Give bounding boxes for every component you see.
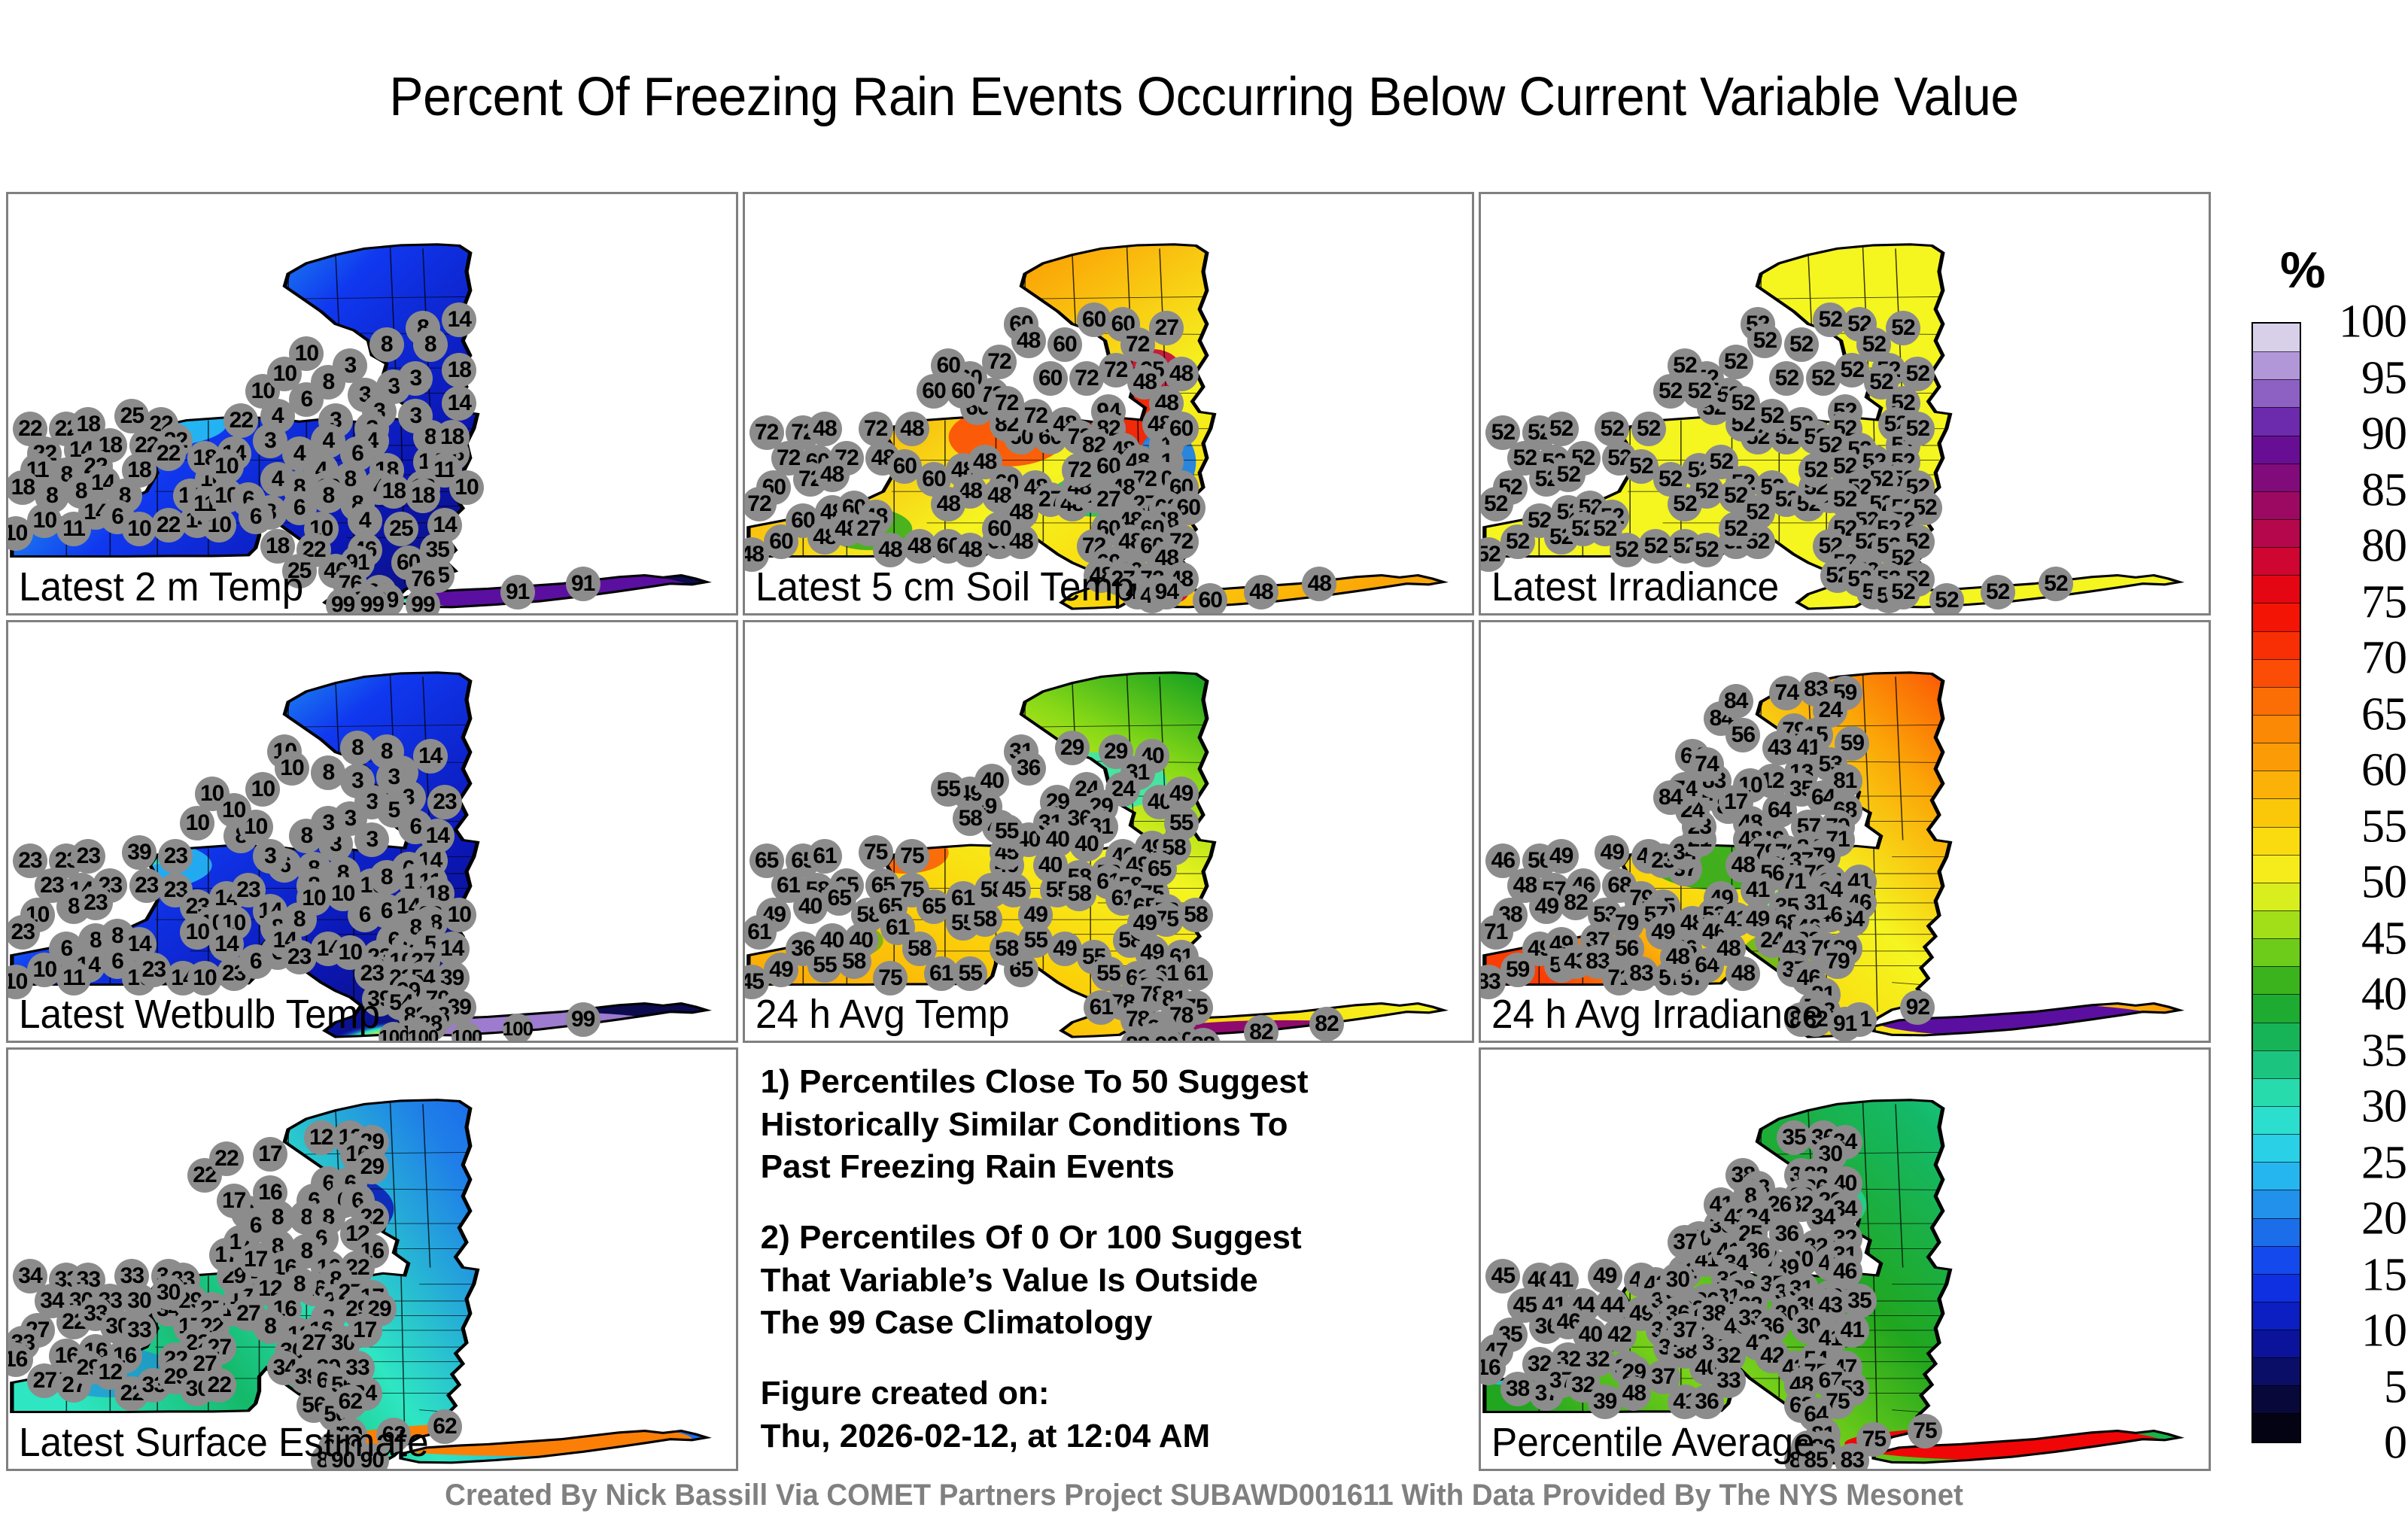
colorbar-band — [2253, 631, 2300, 659]
station-marker: 8 — [369, 327, 404, 362]
station-marker: 52 — [1544, 412, 1579, 446]
station-marker: 10 — [275, 751, 309, 786]
station-marker: 99 — [566, 1002, 600, 1037]
station-marker: 48 — [1725, 956, 1760, 991]
colorbar-band — [2253, 771, 2300, 798]
colorbar-band — [2253, 1023, 2300, 1050]
colorbar-band — [2253, 491, 2300, 519]
station-marker: 25 — [384, 512, 418, 546]
station-marker: 61 — [807, 839, 842, 874]
map-area-0: 2222182522221418222282211188814818221011… — [8, 194, 736, 613]
station-marker: 22 — [202, 1368, 236, 1403]
station-marker: 60 — [1164, 412, 1199, 446]
colorbar-band — [2253, 1274, 2300, 1302]
colorbar-band — [2253, 1190, 2300, 1217]
station-marker: 11 — [56, 961, 91, 995]
notes-block: 1) Percentiles Close To 50 Suggest Histo… — [761, 1061, 1467, 1464]
station-marker: 10 — [180, 806, 214, 840]
station-marker: 23 — [158, 839, 193, 874]
station-marker: 23 — [6, 915, 40, 950]
station-marker: 10 — [180, 915, 214, 950]
station-marker: 91 — [500, 575, 535, 609]
station-marker: 56 — [1725, 718, 1760, 752]
panel-latest-wetbulb-temp[interactable]: 2323233923231423232382310236881423142310… — [6, 620, 738, 1044]
colorbar-band — [2253, 659, 2300, 687]
station-marker: 30 — [151, 1275, 186, 1310]
colorbar-band — [2253, 1106, 2300, 1134]
note-3-figure-created: Figure created on: Thu, 2026-02-12, at 1… — [761, 1372, 1467, 1457]
station-marker: 52 — [1653, 374, 1688, 409]
panel-latest-surface-estimate[interactable]: 3433333333343033303422332733161616303316… — [6, 1047, 738, 1471]
station-marker: 6 — [239, 500, 273, 534]
station-marker: 52 — [1719, 512, 1753, 546]
colorbar-tick: 30 — [2309, 1081, 2406, 1134]
station-marker: 55 — [990, 814, 1024, 849]
colorbar-tick: 50 — [2309, 856, 2406, 910]
station-marker: 92 — [1900, 990, 1935, 1025]
station-marker: 60 — [1033, 361, 1068, 396]
station-marker: 10 — [449, 470, 484, 505]
panel-24h-avg-temp[interactable]: 6565617575615865657540654961364040586561… — [743, 620, 1475, 1044]
colorbar-band — [2253, 938, 2300, 966]
colorbar-band — [2253, 1078, 2300, 1106]
colorbar-tick: 35 — [2309, 1024, 2406, 1078]
station-marker: 3 — [311, 806, 345, 840]
station-marker: 48 — [807, 412, 842, 446]
station-marker: 62 — [333, 1385, 367, 1419]
note-2-line-3: The 99 Case Climatology — [761, 1304, 1153, 1341]
station-marker: 72 — [743, 487, 777, 521]
note-1-line-1: 1) Percentiles Close To 50 Suggest — [761, 1063, 1309, 1100]
panel-latest-5cm-soil-temp[interactable]: 7272487248726072486072486072604860486048… — [743, 192, 1475, 616]
colorbar-band — [2253, 1357, 2300, 1385]
colorbar-band — [2253, 436, 2300, 464]
note-1-line-2: Historically Similar Conditions To — [761, 1106, 1288, 1143]
station-marker: 52 — [1769, 361, 1804, 396]
colorbar-band — [2253, 687, 2300, 715]
panel-label: Latest Irradiance — [1491, 564, 1779, 610]
station-marker: 10 — [289, 336, 324, 371]
station-marker: 10 — [245, 772, 280, 807]
colorbar-tick: 40 — [2309, 968, 2406, 1022]
colorbar-band — [2253, 966, 2300, 994]
station-marker: 3 — [253, 424, 287, 458]
station-marker: 10 — [442, 898, 476, 932]
attribution-footer: Created By Nick Bassill Via COMET Partne… — [48, 1479, 2360, 1512]
station-marker: 62 — [427, 1409, 462, 1444]
panel-label: Latest Wetbulb Temp — [19, 991, 380, 1038]
colorbar-band — [2253, 1330, 2300, 1357]
colorbar-area: % 10095908580757065605550454035302520151… — [2250, 226, 2408, 1475]
station-marker: 74 — [1689, 747, 1724, 782]
station-marker: 3 — [354, 822, 389, 857]
panel-label: 24 h Avg Irradiance — [1491, 991, 1823, 1038]
panel-label: 24 h Avg Temp — [756, 991, 1010, 1038]
colorbar-tick: 80 — [2309, 520, 2406, 573]
station-marker: 60 — [1047, 327, 1082, 362]
station-marker: 52 — [1886, 311, 1920, 345]
station-marker: 37 — [1668, 1313, 1702, 1348]
colorbar-band — [2253, 1385, 2300, 1413]
note-2-line-1: 2) Percentiles Of 0 Or 100 Suggest — [761, 1219, 1302, 1256]
station-marker: 52 — [2039, 567, 2073, 601]
colorbar-tick: 70 — [2309, 632, 2406, 685]
station-marker: 52 — [1719, 345, 1753, 379]
station-marker: 49 — [1595, 835, 1629, 870]
colorbar-tick: 60 — [2309, 744, 2406, 798]
station-marker: 94 — [1149, 575, 1184, 609]
station-marker: 41 — [1835, 1313, 1869, 1348]
station-marker: 75 — [1908, 1414, 1942, 1448]
colorbar-tick: 25 — [2309, 1136, 2406, 1190]
map-panel-grid: 2222182522221418222282211188814818221011… — [6, 192, 2211, 1471]
colorbar-gradient — [2251, 322, 2301, 1443]
station-marker: 58 — [953, 801, 987, 836]
station-marker: 23 — [78, 886, 113, 920]
station-marker: 60 — [1193, 583, 1227, 616]
station-marker: 40 — [1069, 827, 1104, 862]
station-marker: 18 — [442, 353, 476, 388]
colorbar-band — [2253, 827, 2300, 855]
colorbar-band — [2253, 910, 2300, 938]
panel-notes: 1) Percentiles Close To 50 Suggest Histo… — [743, 1047, 1475, 1471]
station-marker: 6 — [239, 944, 273, 979]
station-marker: 48 — [931, 487, 965, 521]
station-marker: 91 — [1828, 1007, 1862, 1041]
map-area-1: 7272487248726072486072486072604860486048… — [745, 194, 1473, 613]
station-marker: 48 — [1011, 324, 1046, 358]
station-marker: 29 — [1055, 731, 1090, 765]
colorbar-tick: 95 — [2309, 351, 2406, 405]
station-marker: 52 — [1981, 575, 2015, 609]
panel-latest-2m-temp[interactable]: 2222182522221418222282211188814818221011… — [6, 192, 738, 616]
station-marker: 14 — [413, 739, 448, 774]
colorbar-tick: 0 — [2309, 1417, 2406, 1470]
station-marker: 84 — [1653, 780, 1688, 815]
note-1: 1) Percentiles Close To 50 Suggest Histo… — [761, 1061, 1467, 1188]
station-marker: 58 — [837, 944, 871, 979]
panel-label: Latest 5 cm Soil Temp — [756, 564, 1135, 610]
station-marker: 52 — [1784, 327, 1819, 362]
map-area-4: 6565617575615865657540654961364040586561… — [745, 622, 1473, 1041]
figure-created-timestamp: Thu, 2026-02-12, at 12:04 AM — [761, 1418, 1211, 1454]
colorbar-tick: 65 — [2309, 688, 2406, 741]
station-marker: 29 — [354, 1150, 389, 1184]
colorbar-band — [2253, 407, 2300, 435]
colorbar-tick: 100 — [2309, 296, 2406, 349]
station-marker: 22 — [223, 403, 258, 438]
station-marker: 75 — [1856, 1422, 1891, 1457]
colorbar-tick: 75 — [2309, 576, 2406, 629]
colorbar-band — [2253, 715, 2300, 743]
note-2: 2) Percentiles Of 0 Or 100 Suggest That … — [761, 1217, 1467, 1344]
station-marker: 52 — [1886, 575, 1920, 609]
colorbar-band — [2253, 798, 2300, 826]
colorbar-band — [2253, 1050, 2300, 1078]
station-marker: 52 — [1479, 487, 1513, 521]
station-marker: 52 — [1668, 487, 1702, 521]
colorbar-band — [2253, 883, 2300, 910]
colorbar-tick-labels: 1009590858075706560555045403530252015105… — [2309, 322, 2406, 1443]
colorbar-band — [2253, 743, 2300, 771]
station-marker: 3 — [398, 361, 433, 396]
station-marker: 36 — [1011, 751, 1046, 786]
station-marker: 52 — [1551, 457, 1586, 492]
colorbar-tick: 55 — [2309, 800, 2406, 853]
colorbar-band — [2253, 351, 2300, 379]
station-marker: 48 — [1244, 575, 1278, 609]
colorbar-tick: 85 — [2309, 464, 2406, 517]
station-marker: 100 — [408, 1022, 438, 1044]
station-marker: 40 — [974, 764, 1009, 798]
station-marker: 52 — [1747, 324, 1782, 358]
colorbar-band — [2253, 994, 2300, 1022]
station-marker: 3 — [253, 839, 287, 874]
station-marker: 100 — [451, 1022, 482, 1044]
station-marker: 18 — [435, 420, 470, 454]
station-marker: 84 — [1719, 684, 1753, 719]
note-1-line-3: Past Freezing Rain Events — [761, 1148, 1175, 1185]
colorbar-band — [2253, 324, 2300, 351]
colorbar-tick: 20 — [2309, 1193, 2406, 1246]
colorbar-band — [2253, 575, 2300, 603]
station-marker: 39 — [122, 835, 157, 870]
colorbar-band — [2253, 1246, 2300, 1274]
station-marker: 75 — [895, 839, 929, 874]
colorbar-band — [2253, 519, 2300, 547]
station-marker: 14 — [442, 302, 476, 337]
station-marker: 22 — [151, 436, 186, 471]
station-marker: 72 — [1069, 361, 1104, 396]
station-marker: 37 — [1668, 1225, 1702, 1260]
station-marker: 55 — [953, 956, 987, 991]
station-marker: 18 — [406, 479, 440, 513]
station-marker: 75 — [873, 961, 908, 995]
station-marker: 58 — [1178, 898, 1213, 932]
colorbar-band — [2253, 855, 2300, 883]
station-marker: 17 — [253, 1137, 287, 1172]
colorbar-band — [2253, 603, 2300, 631]
station-marker: 49 — [1544, 839, 1579, 874]
station-marker: 17 — [348, 1313, 382, 1348]
station-marker: 52 — [1900, 412, 1935, 446]
colorbar-band — [2253, 1162, 2300, 1190]
colorbar-tick: 45 — [2309, 912, 2406, 965]
map-area-6: 3433333333343033303422332733161616303316… — [8, 1050, 736, 1469]
station-marker: 45 — [1485, 1259, 1520, 1293]
station-marker: 100 — [503, 1014, 533, 1044]
station-marker: 22 — [209, 1141, 244, 1176]
colorbar-tick: 5 — [2309, 1360, 2406, 1414]
station-marker: 61 — [743, 915, 777, 950]
station-marker: 4 — [260, 462, 295, 497]
colorbar-band — [2253, 1218, 2300, 1246]
colorbar-band — [2253, 1413, 2300, 1441]
panel-percentile-average[interactable]: 4546414942454144444936463547323232404216… — [1479, 1047, 2211, 1471]
figure-created-label: Figure created on: — [761, 1375, 1050, 1412]
colorbar-band — [2253, 379, 2300, 407]
station-marker: 48 — [895, 412, 929, 446]
page-title: Percent Of Freezing Rain Events Occurrin… — [72, 66, 2336, 128]
station-marker: 61 — [1084, 990, 1118, 1025]
station-marker: 52 — [1929, 583, 1964, 616]
map-area-7: 4546414942454144444936463547323232404216… — [1481, 1050, 2209, 1469]
station-marker: 42 — [1602, 1318, 1637, 1352]
note-2-line-2: That Variable’s Value Is Outside — [761, 1262, 1258, 1299]
station-marker: 58 — [968, 902, 1002, 937]
colorbar-band — [2253, 1134, 2300, 1162]
station-marker: 14 — [442, 386, 476, 421]
map-area-3: 2323233923231423232382310236881423142310… — [8, 622, 736, 1041]
colorbar-band — [2253, 464, 2300, 491]
colorbar-unit-label: % — [2280, 241, 2325, 299]
station-marker: 23 — [427, 785, 462, 819]
panel-label: Latest Surface Estimate — [19, 1419, 429, 1466]
colorbar-tick: 90 — [2309, 408, 2406, 461]
station-marker: 60 — [982, 512, 1017, 546]
colorbar-tick: 15 — [2309, 1248, 2406, 1302]
station-marker: 79 — [1820, 944, 1855, 979]
station-marker: 52 — [1631, 412, 1666, 446]
station-marker: 8 — [413, 327, 448, 362]
station-marker: 82 — [1309, 1007, 1344, 1041]
station-marker: 48 — [1302, 567, 1336, 601]
station-marker: 23 — [71, 839, 105, 874]
station-marker: 71 — [1479, 915, 1513, 950]
station-marker: 10 — [209, 449, 244, 484]
station-marker: 48 — [815, 457, 850, 492]
panel-label: Percentile Average — [1491, 1419, 1815, 1466]
panel-latest-irradiance[interactable]: 5252525252525252525252525252525252525252… — [1479, 192, 2211, 616]
station-marker: 55 — [931, 772, 965, 807]
colorbar-tick: 10 — [2309, 1305, 2406, 1358]
station-marker: 60 — [917, 374, 951, 409]
panel-label: Latest 2 m Temp — [19, 564, 303, 610]
colorbar-band — [2253, 547, 2300, 575]
station-marker: 100 — [379, 1022, 409, 1044]
station-marker: 91 — [566, 567, 600, 601]
station-marker: 52 — [1806, 361, 1841, 396]
map-area-2: 5252525252525252525252525252525252525252… — [1481, 194, 2209, 613]
panel-24h-avg-irradiance[interactable]: 4656494940485746687949823871494937537956… — [1479, 620, 2211, 1044]
station-marker: 33 — [122, 1313, 157, 1348]
station-marker: 33 — [340, 1351, 375, 1385]
station-marker: 45 — [996, 873, 1031, 907]
station-marker: 75 — [859, 835, 893, 870]
station-marker: 10 — [217, 793, 251, 828]
station-marker: 72 — [982, 345, 1017, 379]
colorbar-band — [2253, 1302, 2300, 1330]
station-marker: 27 — [1149, 311, 1184, 345]
map-area-5: 4656494940485746687949823871494937537956… — [1481, 622, 2209, 1041]
